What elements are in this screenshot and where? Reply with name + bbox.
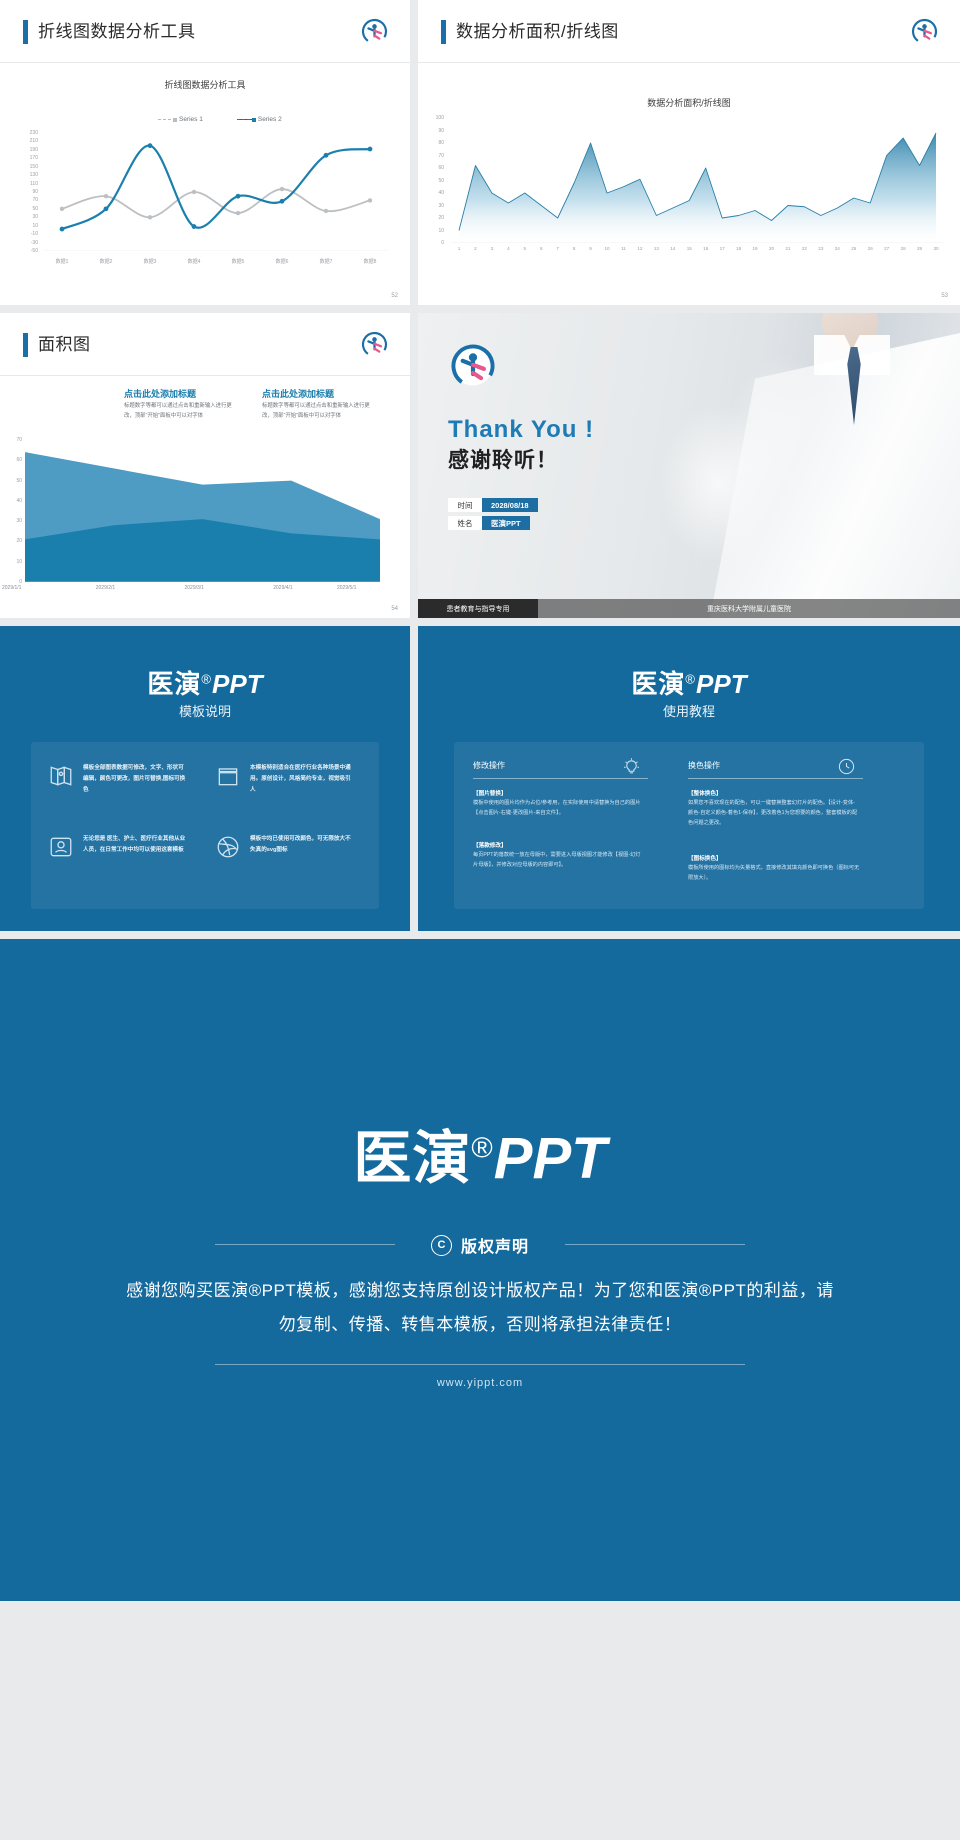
brand-wordmark-5: 医演®PPT [0,664,410,701]
slide-thank-you: Thank You ! 感谢聆听！ 时间 2028/08/18 姓名 医演PPT… [418,313,960,618]
slide2-ytick: 10 [422,228,444,234]
brand-reg-7: ® [471,1133,493,1165]
slide2-ytick: 60 [422,165,444,171]
slide2-title: 数据分析面积/折线图 [456,17,619,42]
slide1-ytick: 130 [16,172,38,178]
thank-you-chinese: 感谢聆听！ [448,444,558,474]
brand-logo-icon [450,343,496,389]
slide4-footer: 患者教育与指导专用 重庆医科大学附属儿童医院 [418,599,960,618]
block-body-2-2: 模板所使用的图标均为矢量格式，直接修改其填充颜色即可换色（图标可无限放大）。 [688,864,860,884]
note-body-1: 标题数字等都可以通过点击和重新输入进行更改，顶部“开始”面板中可以对字体 [124,401,242,421]
slide-usage-tutorial: 医演®PPT 使用教程 修改操作 【图片替换】 模板中使用的图片均作为占位/参考… [418,626,960,931]
section-heading-modify: 修改操作 [473,760,505,771]
brand-ppt-5: PPT [212,669,263,699]
slide3-ytick: 20 [0,538,22,544]
dribbble-icon [215,834,241,860]
slide-line-chart: 折线图数据分析工具 折线图数据分析工具 Series 1 [0,0,410,305]
brand-wordmark-7: 医演®PPT [0,1111,960,1195]
section-heading-recolor: 换色操作 [688,760,720,771]
slide-copyright: 医演®PPT C 版权声明 感谢您购买医演®PPT模板，感谢您支持原创设计版权产… [0,939,960,1601]
header-accent-bar [23,333,28,357]
slide2-page-number: 53 [941,293,948,299]
legend-swatch-series2 [237,119,255,120]
user-card-icon [48,834,74,860]
brand-wordmark-6: 医演®PPT [418,664,960,701]
brand-ppt-7: PPT [494,1126,607,1191]
note-title-1: 点击此处添加标题 [124,387,196,400]
slide-area-line-chart: 数据分析面积/折线图 数据分析面积/折线图 100908070605040302… [418,0,960,305]
slide1-chart-title: 折线图数据分析工具 [0,78,410,91]
slide3-ytick: 30 [0,518,22,524]
meta-key-time: 时间 [448,498,482,512]
slide1-ytick: 50 [16,206,38,212]
slide1-ytick: 30 [16,214,38,220]
slide-template-info: 医演®PPT 模板说明 模板全部图表数据可修改，文字、形状可编辑，颜色可更改，图… [0,626,410,931]
slide1-ytick: -10 [16,231,38,237]
slide1-ytick: 230 [16,130,38,136]
info-cell-2: 本模板特别适合在医疗行业各种场景中通用。原创设计，风格简约专业，视觉吸引人 [215,763,355,796]
slide3-ytick: 70 [0,437,22,443]
info-cell-4-text: 模板中均已使用可改颜色，可无限放大不失真的svg图标 [250,834,355,860]
brand-cn-6: 医演 [631,669,685,699]
palette-icon [837,757,856,776]
legend-item-series1: Series 1 [158,116,203,123]
slide3-xtick: 2029/2/1 [96,585,115,591]
footer-right-label: 重庆医科大学附属儿童医院 [538,599,960,618]
header-accent-bar [23,20,28,44]
legend-label-series2: Series 2 [258,116,282,123]
slide3-ytick: 40 [0,498,22,504]
brand-logo-icon [361,18,388,45]
brand-logo-icon [361,331,388,358]
thank-you-english: Thank You ! [448,416,594,444]
slide1-ytick: 210 [16,138,38,144]
slide3-plot [25,440,380,582]
slide1-ytick: 150 [16,164,38,170]
book-icon [48,763,74,789]
slide2-ytick: 20 [422,215,444,221]
block-title-2-2: 【图标换色】 [688,854,722,862]
slide1-title: 折线图数据分析工具 [38,17,196,42]
section-divider-1 [473,778,648,779]
slide1-xtick: 数据2 [86,258,126,265]
copyright-label: 版权声明 [461,1233,529,1257]
slide1-ytick: -30 [16,240,38,246]
slide3-page-number: 54 [391,606,398,612]
slide2-plot [451,118,944,243]
meta-value-time: 2028/08/18 [482,498,538,512]
slide1-xtick: 数据5 [218,258,258,265]
slide2-ytick: 50 [422,178,444,184]
slide1-plot [44,133,388,251]
slide6-subtitle: 使用教程 [418,701,960,720]
slide1-legend: Series 1 Series 2 [158,116,282,123]
slide3-ytick: 10 [0,559,22,565]
section-divider-2 [688,778,863,779]
slide2-ytick: 30 [422,203,444,209]
block-body-1-2: 每页PPT的落款统一放在母版中，需要进入母版视图才能修改【视图-幻灯片母版】，并… [473,851,645,871]
brand-ppt-6: PPT [696,669,747,699]
slide1-ytick: -50 [16,248,38,254]
slide1-header: 折线图数据分析工具 [0,0,410,63]
slide1-xtick: 数据8 [350,258,390,265]
info-cell-4: 模板中均已使用可改颜色，可无限放大不失真的svg图标 [215,834,355,860]
meta-value-name: 医演PPT [482,516,530,530]
block-title-1-1: 【图片替换】 [473,789,507,797]
slide3-header: 面积图 [0,313,410,376]
slide1-xtick: 数据3 [130,258,170,265]
block-title-1-2: 【落款修改】 [473,841,507,849]
slide3-xtick: 2029/3/1 [185,585,204,591]
slide2-ytick: 80 [422,140,444,146]
slide1-ytick: 110 [16,181,38,187]
meta-row-name: 姓名 医演PPT [448,516,530,530]
slide3-ytick: 60 [0,457,22,463]
slide1-page-number: 52 [391,293,398,299]
brand-cn-7: 医演 [353,1126,471,1191]
slide-area-chart: 面积图 点击此处添加标题 标题数字等都可以通过点击和重新输入进行更改，顶部“开始… [0,313,410,618]
slide1-ytick: 70 [16,197,38,203]
brand-reg-5: ® [201,671,212,686]
note-title-2: 点击此处添加标题 [262,387,334,400]
note-body-2: 标题数字等都可以通过点击和重新输入进行更改，顶部“开始”面板中可以对字体 [262,401,380,421]
info-cell-2-text: 本模板特别适合在医疗行业各种场景中通用。原创设计，风格简约专业，视觉吸引人 [250,763,355,796]
legend-label-series1: Series 1 [179,116,203,123]
slide2-ytick: 90 [422,128,444,134]
brand-cn-5: 医演 [147,669,201,699]
slide2-ytick: 40 [422,190,444,196]
slide1-xtick: 数据7 [306,258,346,265]
slide2-xtick: 30 [916,246,956,251]
block-body-1-1: 模板中使用的图片均作为占位/参考用，在实际使用中请替换为自己的图片【点击图片-右… [473,799,645,819]
meta-key-name: 姓名 [448,516,482,530]
copyright-mark-icon: C [431,1235,452,1256]
slide-deck-page: 折线图数据分析工具 折线图数据分析工具 Series 1 [0,0,960,1840]
slide2-ytick: 100 [422,115,444,121]
block-body-2-1: 如果您不喜欢现在的配色，可以一键替换整套幻灯片的配色。【设计-变体-颜色-自定义… [688,799,860,829]
divider-bottom [215,1364,745,1365]
slide3-ytick: 50 [0,478,22,484]
website-url: www.yippt.com [0,1377,960,1389]
brand-reg-6: ® [685,671,696,686]
slide2-chart-title: 数据分析面积/折线图 [418,96,960,109]
info-cell-3: 无论您是 医生、护士、医疗行业其他从业人员，在日常工作中均可以使用这套模板 [48,834,188,860]
footer-left-label: 患者教育与指导专用 [418,599,538,618]
slide1-ytick: 90 [16,189,38,195]
header-accent-bar [441,20,446,44]
slide3-xtick: 2029/5/1 [337,585,356,591]
slide2-ytick: 70 [422,153,444,159]
legend-item-series2: Series 2 [237,116,282,123]
slide2-header: 数据分析面积/折线图 [418,0,960,63]
copyright-badge: C 版权声明 [0,1233,960,1257]
legend-swatch-series1 [158,119,176,120]
meta-row-time: 时间 2028/08/18 [448,498,538,512]
info-cell-1-text: 模板全部图表数据可修改，文字、形状可编辑，颜色可更改，图片可替换,图标可换色 [83,763,188,796]
info-cell-3-text: 无论您是 医生、护士、医疗行业其他从业人员，在日常工作中均可以使用这套模板 [83,834,188,860]
slide1-xtick: 数据6 [262,258,302,265]
slide1-ytick: 10 [16,223,38,229]
brand-logo-icon [911,18,938,45]
slide3-xtick: 2029/4/1 [273,585,292,591]
info-cell-1: 模板全部图表数据可修改，文字、形状可编辑，颜色可更改，图片可替换,图标可换色 [48,763,188,796]
bulb-icon [622,757,641,776]
slide1-xtick: 数据4 [174,258,214,265]
slide1-ytick: 190 [16,147,38,153]
slide5-subtitle: 模板说明 [0,701,410,720]
slide1-ytick: 170 [16,155,38,161]
slide3-xtick: 2029/1/1 [2,585,21,591]
block-title-2-1: 【整体换色】 [688,789,722,797]
box-icon [215,763,241,789]
copyright-text: 感谢您购买医演®PPT模板，感谢您支持原创设计版权产品！为了您和医演®PPT的利… [120,1274,840,1342]
slide1-xtick: 数据1 [42,258,82,265]
slide3-title: 面积图 [38,330,91,355]
